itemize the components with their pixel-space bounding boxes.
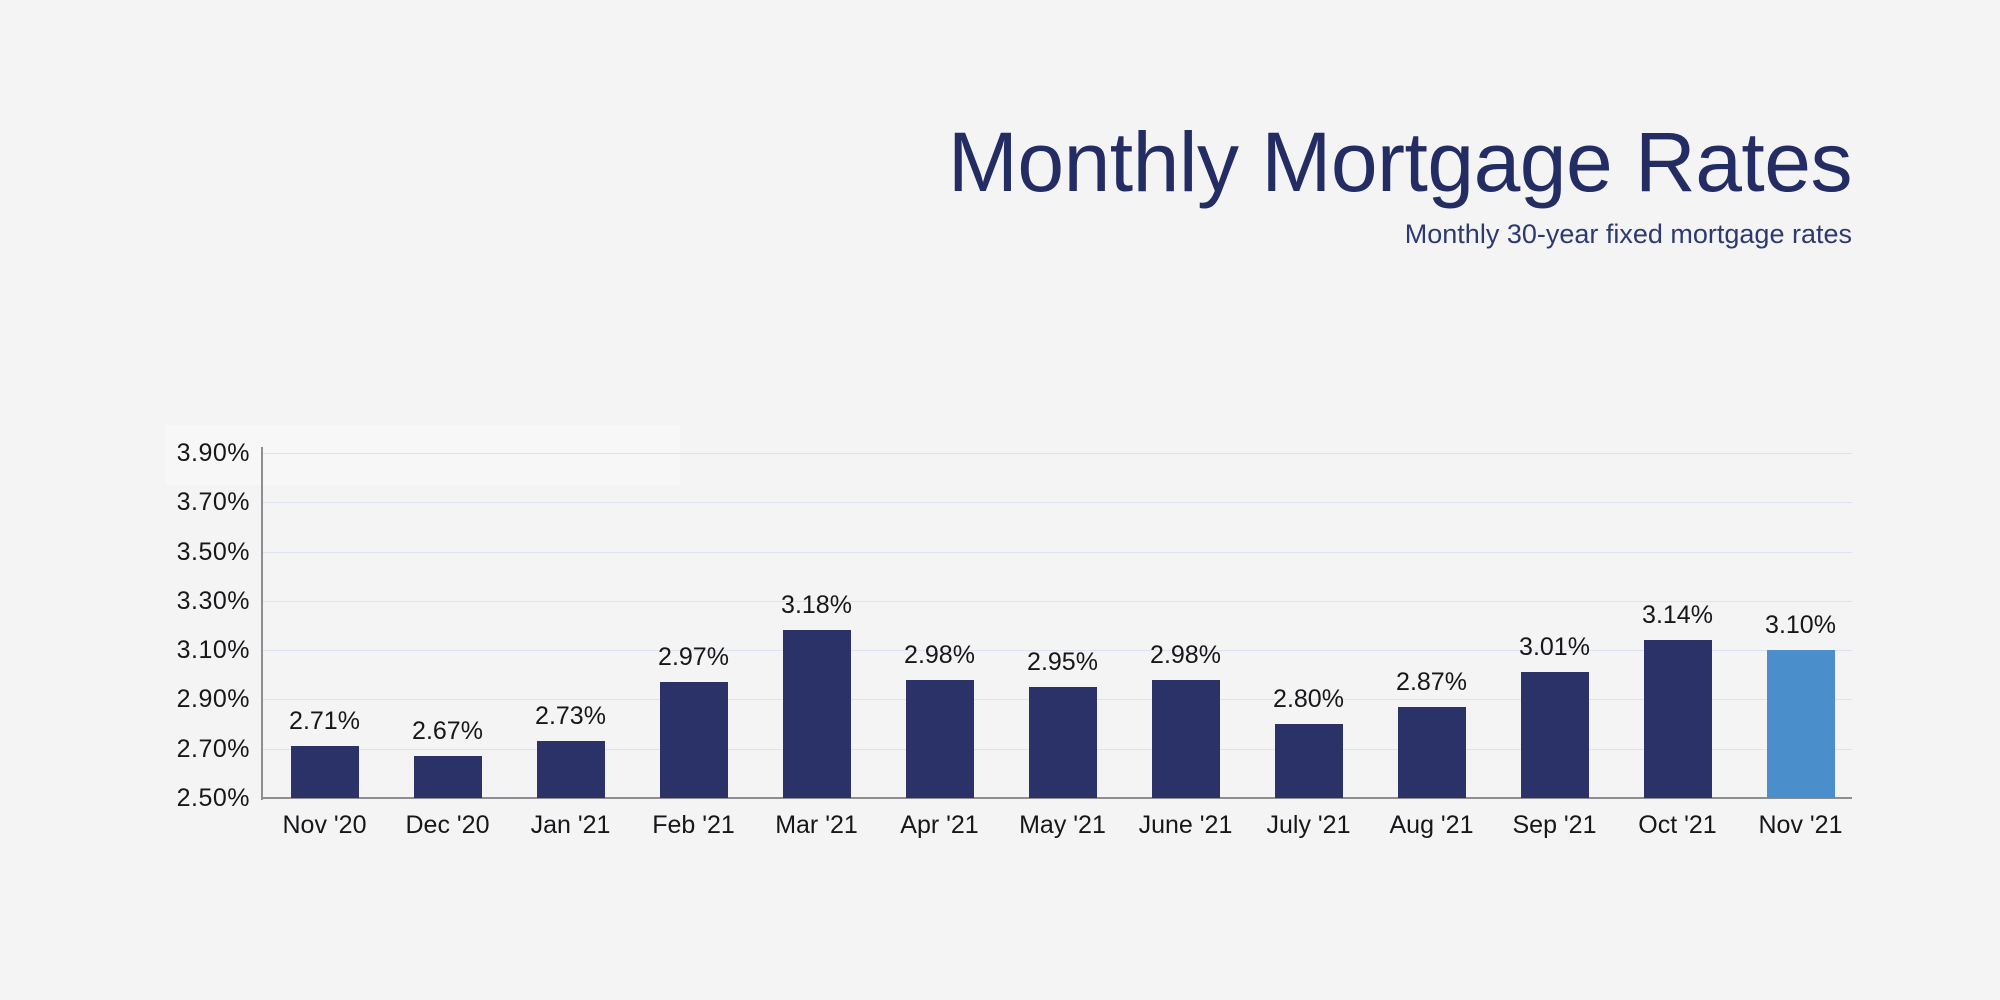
x-axis-tick: Oct '21 bbox=[1616, 810, 1739, 840]
bar[interactable] bbox=[660, 682, 728, 798]
x-axis-tick: Apr '21 bbox=[878, 810, 1001, 840]
y-axis-tick: 2.70% bbox=[130, 737, 250, 762]
x-axis-tick: May '21 bbox=[1001, 810, 1124, 840]
bar-value-label: 2.95% bbox=[1001, 649, 1124, 675]
bar-chart: 3.90%3.70%3.50%3.30%3.10%2.90%2.70%2.50%… bbox=[0, 0, 2000, 1000]
bar[interactable] bbox=[291, 746, 359, 798]
bar-group[interactable]: 2.87% bbox=[1370, 453, 1493, 798]
bar-value-label: 3.10% bbox=[1739, 612, 1862, 638]
bar-value-label: 2.73% bbox=[509, 703, 632, 729]
bar-value-label: 2.80% bbox=[1247, 686, 1370, 712]
bar-group[interactable]: 3.01% bbox=[1493, 453, 1616, 798]
bar[interactable] bbox=[1152, 680, 1220, 798]
y-axis-tick: 3.30% bbox=[130, 589, 250, 614]
y-axis-tick: 2.50% bbox=[130, 786, 250, 811]
y-axis-tick: 2.90% bbox=[130, 687, 250, 712]
bar[interactable] bbox=[906, 680, 974, 798]
bar-group[interactable]: 2.98% bbox=[1124, 453, 1247, 798]
bar-value-label: 2.87% bbox=[1370, 669, 1493, 695]
x-axis-tick: Nov '20 bbox=[263, 810, 386, 840]
plot-area: 2.71%2.67%2.73%2.97%3.18%2.98%2.95%2.98%… bbox=[263, 453, 1852, 798]
x-axis-tick: Dec '20 bbox=[386, 810, 509, 840]
bar-value-label: 3.14% bbox=[1616, 602, 1739, 628]
x-axis-tick: Aug '21 bbox=[1370, 810, 1493, 840]
bar-group[interactable]: 2.97% bbox=[632, 453, 755, 798]
y-axis-tick: 3.50% bbox=[130, 540, 250, 565]
bar-group[interactable]: 2.80% bbox=[1247, 453, 1370, 798]
bar[interactable] bbox=[1029, 687, 1097, 798]
x-axis-tick: Mar '21 bbox=[755, 810, 878, 840]
bar-value-label: 3.01% bbox=[1493, 634, 1616, 660]
bar-group[interactable]: 3.10% bbox=[1739, 453, 1862, 798]
x-axis-tick: Feb '21 bbox=[632, 810, 755, 840]
x-axis-tick: Nov '21 bbox=[1739, 810, 1862, 840]
bar[interactable] bbox=[1521, 672, 1589, 798]
x-axis-tick: Sep '21 bbox=[1493, 810, 1616, 840]
bar[interactable] bbox=[783, 630, 851, 798]
bar-value-label: 2.98% bbox=[1124, 642, 1247, 668]
y-axis-tick: 3.10% bbox=[130, 638, 250, 663]
bar-value-label: 2.71% bbox=[263, 708, 386, 734]
bar-group[interactable]: 2.71% bbox=[263, 453, 386, 798]
bar-highlighted[interactable] bbox=[1767, 650, 1835, 798]
bar-group[interactable]: 3.14% bbox=[1616, 453, 1739, 798]
bar-value-label: 2.67% bbox=[386, 718, 509, 744]
y-axis-tick: 3.90% bbox=[130, 441, 250, 466]
bar-value-label: 3.18% bbox=[755, 592, 878, 618]
bar-value-label: 2.97% bbox=[632, 644, 755, 670]
bar-group[interactable]: 3.18% bbox=[755, 453, 878, 798]
x-axis-tick: July '21 bbox=[1247, 810, 1370, 840]
bar-group[interactable]: 2.73% bbox=[509, 453, 632, 798]
bar-group[interactable]: 2.67% bbox=[386, 453, 509, 798]
bar-group[interactable]: 2.95% bbox=[1001, 453, 1124, 798]
bar[interactable] bbox=[537, 741, 605, 798]
bar-group[interactable]: 2.98% bbox=[878, 453, 1001, 798]
bar[interactable] bbox=[1398, 707, 1466, 798]
x-axis-tick-labels: Nov '20Dec '20Jan '21Feb '21Mar '21Apr '… bbox=[263, 810, 1852, 850]
y-axis-tick: 3.70% bbox=[130, 490, 250, 515]
bar-value-label: 2.98% bbox=[878, 642, 1001, 668]
bar[interactable] bbox=[1644, 640, 1712, 798]
x-axis-tick: Jan '21 bbox=[509, 810, 632, 840]
bar[interactable] bbox=[414, 756, 482, 798]
x-axis-tick: June '21 bbox=[1124, 810, 1247, 840]
y-axis-tick-labels: 3.90%3.70%3.50%3.30%3.10%2.90%2.70%2.50% bbox=[130, 0, 250, 1000]
bar[interactable] bbox=[1275, 724, 1343, 798]
